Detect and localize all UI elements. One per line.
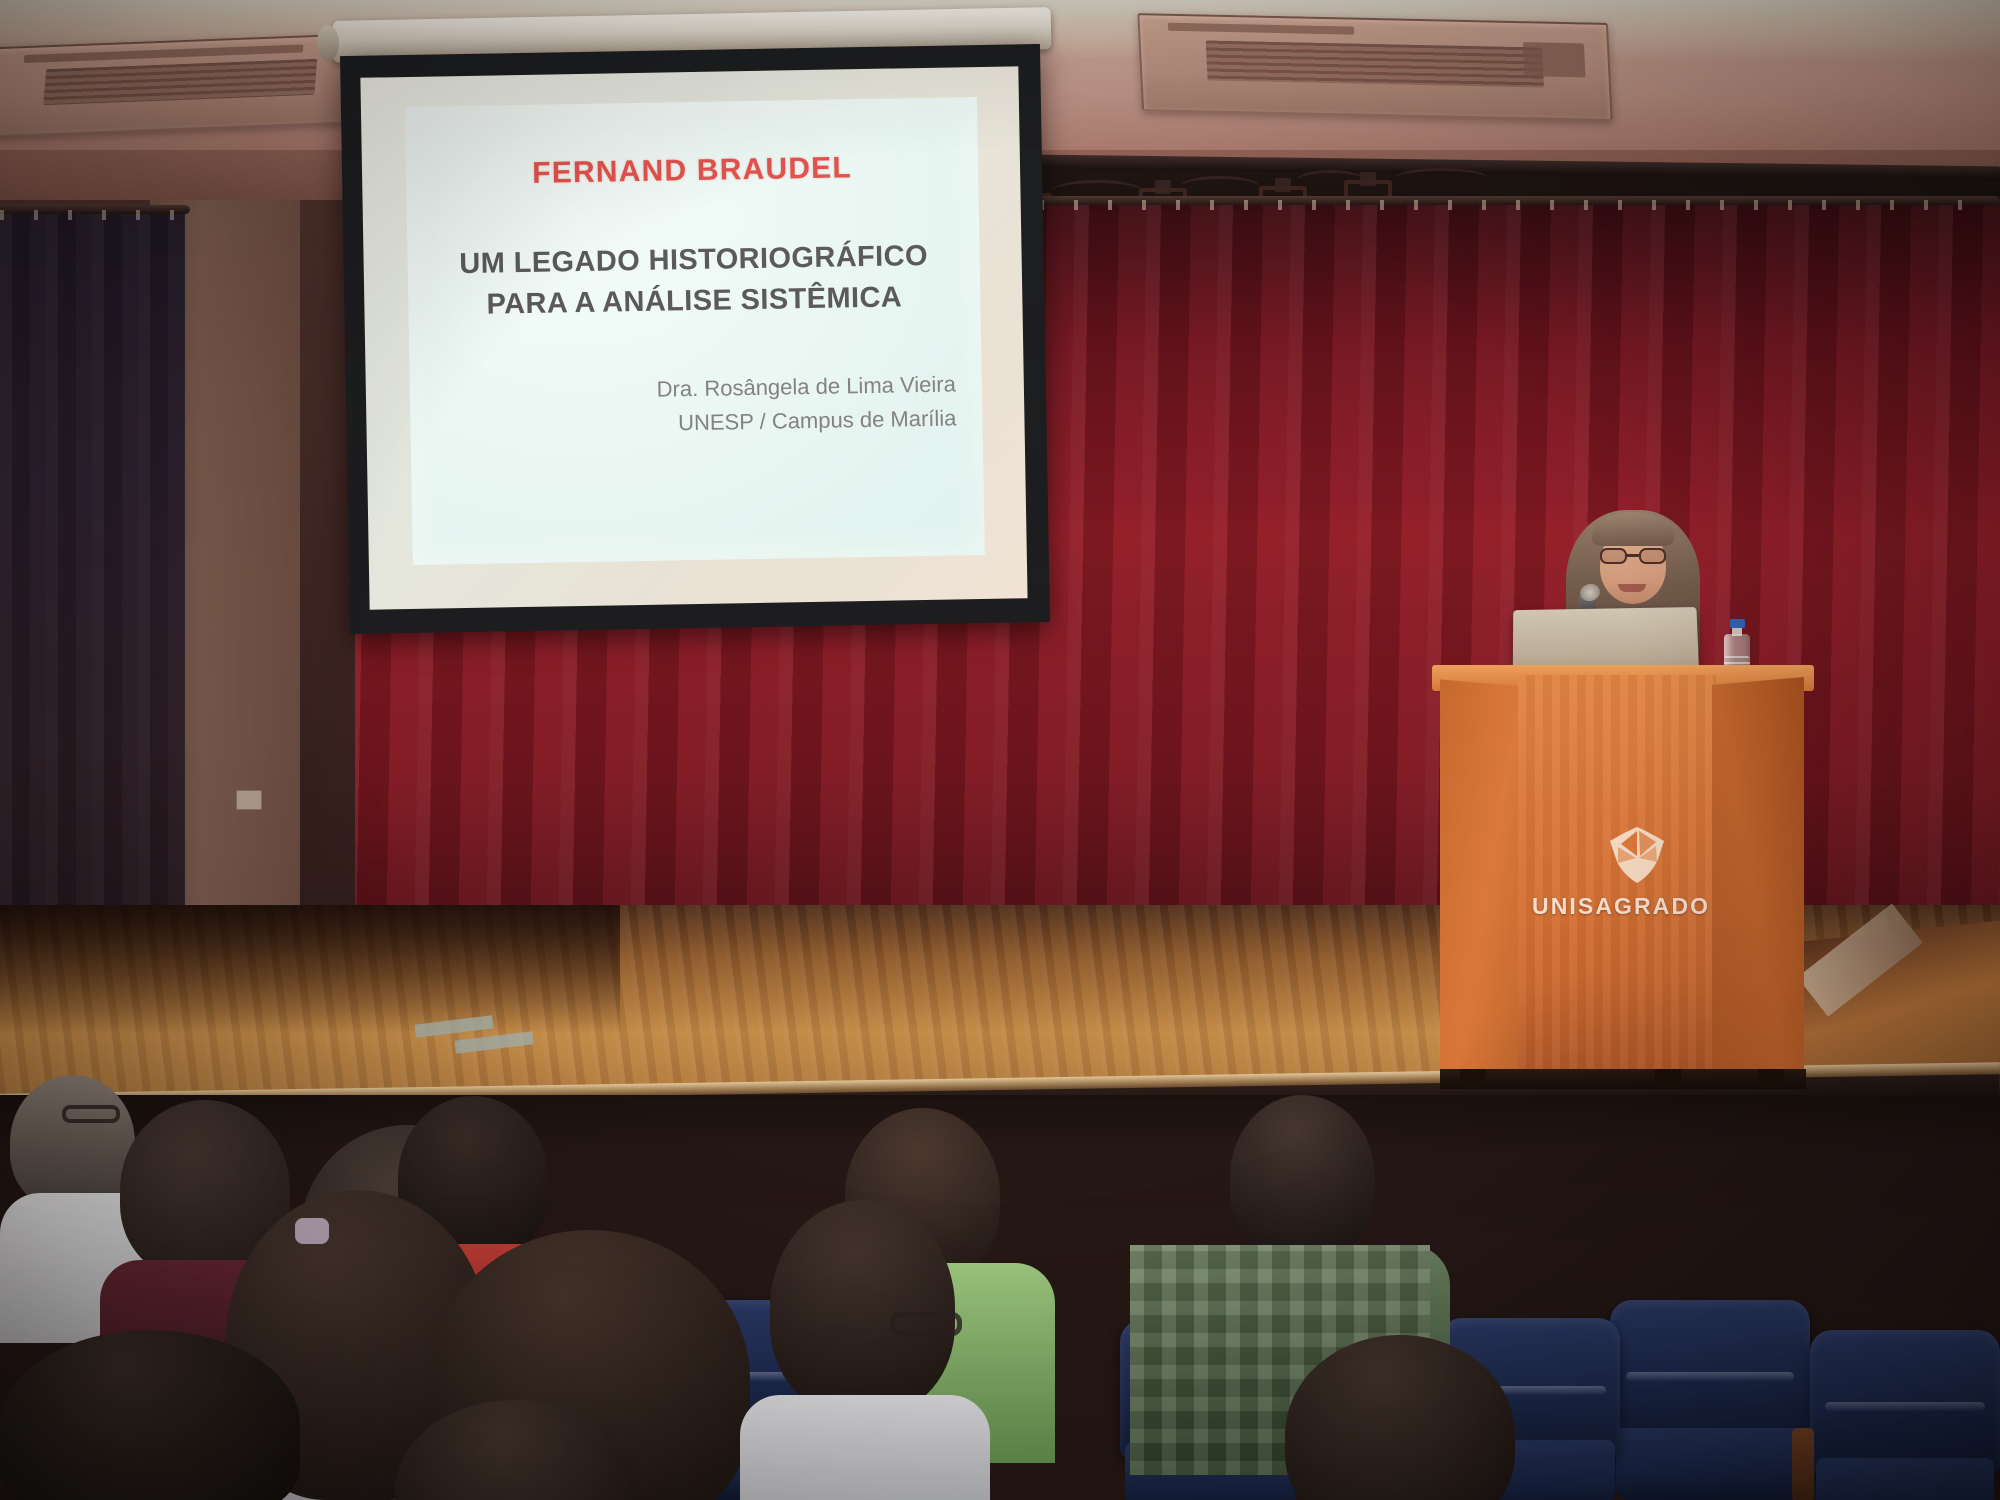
audience-head bbox=[1230, 1095, 1375, 1260]
audience-head bbox=[0, 1330, 300, 1500]
chair-seat bbox=[1816, 1458, 1995, 1500]
hair-clip bbox=[295, 1218, 329, 1244]
screen-border: FERNAND BRAUDEL UM LEGADO HISTORIOGRÁFIC… bbox=[340, 44, 1050, 634]
glasses-lens-right bbox=[1639, 548, 1666, 564]
audience-member bbox=[1285, 1335, 1515, 1500]
stage-shadow bbox=[0, 905, 620, 1035]
auditorium-chair[interactable] bbox=[1810, 1330, 2000, 1500]
audience-clothing bbox=[740, 1395, 990, 1500]
audience-head bbox=[770, 1200, 955, 1415]
chair-back bbox=[1610, 1300, 1810, 1444]
screen-surface: FERNAND BRAUDEL UM LEGADO HISTORIOGRÁFIC… bbox=[360, 66, 1027, 609]
curtain-hooks bbox=[0, 210, 185, 220]
podium-foot bbox=[1460, 1069, 1486, 1087]
speaker-mouth bbox=[1618, 584, 1646, 592]
audience-member bbox=[395, 1400, 635, 1500]
vent-slot bbox=[1523, 42, 1585, 77]
slide-title: FERNAND BRAUDEL bbox=[406, 149, 979, 193]
podium-left-panel bbox=[1440, 679, 1522, 1081]
glasses-lens-left bbox=[1600, 548, 1627, 564]
lighting-cable bbox=[1394, 168, 1489, 190]
vent-louvers bbox=[1206, 41, 1544, 87]
podium: UNISAGRADO bbox=[1440, 665, 1810, 1090]
wall-outlet-plate bbox=[236, 790, 262, 810]
bottle-cap bbox=[1730, 619, 1745, 628]
dark-side-curtain bbox=[0, 212, 185, 982]
projection-screen: FERNAND BRAUDEL UM LEGADO HISTORIOGRÁFIC… bbox=[345, 14, 1045, 634]
audience-head bbox=[10, 1075, 135, 1210]
podium-foot bbox=[1655, 1069, 1681, 1087]
chair-highlight bbox=[1626, 1372, 1794, 1381]
lighting-cable bbox=[1180, 176, 1260, 198]
glasses-bridge bbox=[1627, 554, 1639, 557]
screen-roller-cap bbox=[317, 25, 340, 61]
vent-louvers bbox=[43, 59, 318, 105]
audience-head bbox=[395, 1400, 635, 1500]
slide-subtitle: UM LEGADO HISTORIOGRÁFICO PARA A ANÁLISE… bbox=[407, 235, 980, 327]
eyeglasses-icon bbox=[1600, 548, 1666, 564]
podium-foot bbox=[1758, 1069, 1784, 1087]
chair-armrest bbox=[1792, 1428, 1814, 1500]
vent-slot bbox=[24, 44, 304, 63]
chair-back bbox=[1810, 1330, 2000, 1474]
auditorium-photo: FERNAND BRAUDEL UM LEGADO HISTORIOGRÁFIC… bbox=[0, 0, 2000, 1500]
vent-slot bbox=[1168, 22, 1355, 34]
slide-subtitle-line-2: PARA A ANÁLISE SISTÊMICA bbox=[408, 276, 981, 327]
auditorium-chair[interactable] bbox=[1610, 1300, 1810, 1500]
audience-member bbox=[770, 1200, 955, 1500]
chair-seat bbox=[1616, 1428, 1804, 1500]
podium-base bbox=[1440, 1069, 1806, 1089]
podium-right-panel bbox=[1712, 677, 1804, 1077]
eyeglasses-icon bbox=[890, 1312, 962, 1336]
chair-highlight bbox=[1825, 1402, 1985, 1411]
audience-member bbox=[0, 1330, 300, 1500]
ceiling-ac-vent-right bbox=[1137, 13, 1612, 121]
eyeglasses-icon bbox=[62, 1105, 120, 1123]
unisagrado-shield-icon bbox=[1606, 825, 1668, 885]
podium-institution-label: UNISAGRADO bbox=[1532, 893, 1704, 920]
slide-author-block: Dra. Rosângela de Lima Vieira UNESP / Ca… bbox=[410, 367, 983, 445]
audience-head bbox=[1285, 1335, 1515, 1500]
presentation-slide: FERNAND BRAUDEL UM LEGADO HISTORIOGRÁFIC… bbox=[405, 97, 985, 565]
lighting-cable bbox=[1296, 170, 1366, 192]
